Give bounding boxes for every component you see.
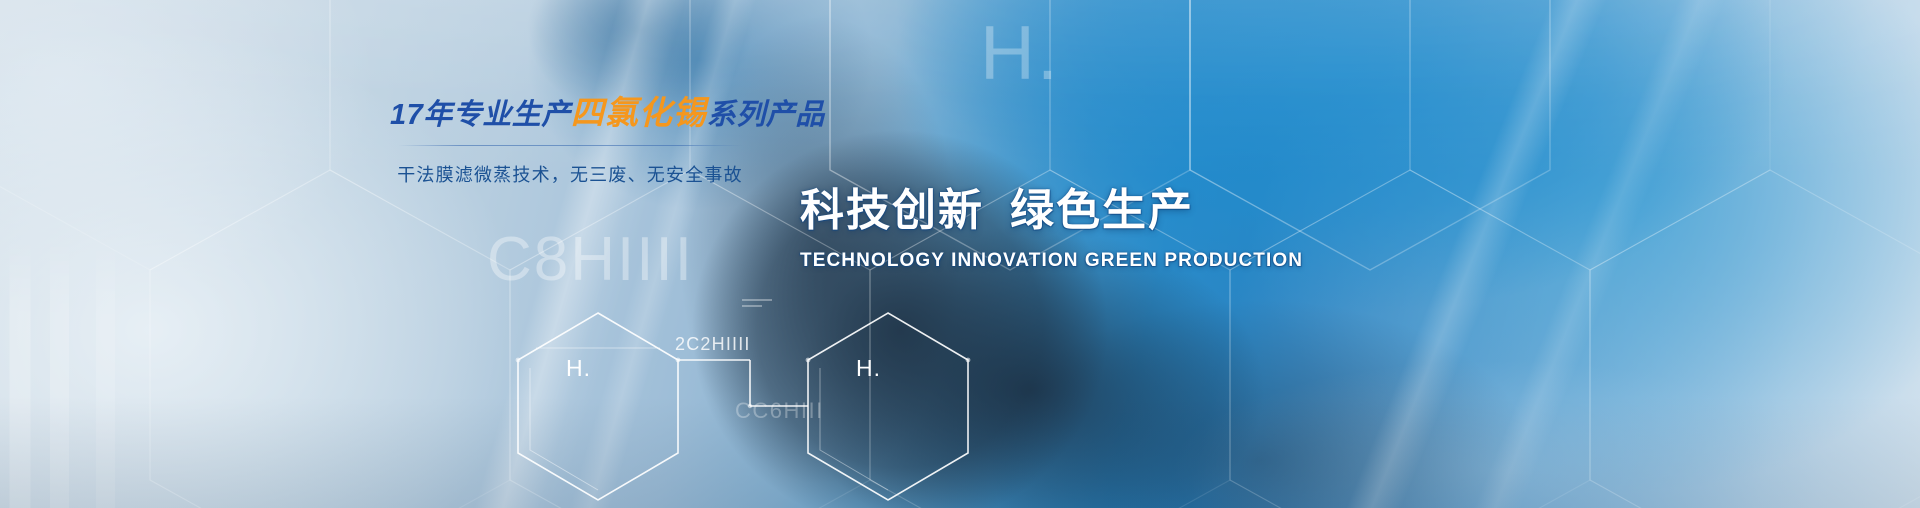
slogan-part-one: 科技创新 — [800, 186, 984, 235]
ghost-formula-bottom-text: CC6HIII — [735, 398, 824, 424]
headline-divider — [398, 145, 743, 146]
left-copy-block: 17年专业生产四氯化锡系列产品 干法膜滤微蒸技术，无三废、无安全事故 — [390, 96, 750, 187]
headline-accent-product: 四氯化锡 — [571, 94, 707, 131]
hexagon-label-left: H. — [566, 355, 591, 382]
headline-suffix: 系列产品 — [707, 99, 825, 131]
ghost-formula-small-text: 2C2HIIII — [675, 334, 751, 355]
hex-inner-detail — [530, 348, 660, 490]
ghost-formula-large-text: C8HIIII — [487, 224, 694, 295]
hexagon-label-large: H. — [980, 10, 1060, 97]
slogan-english: TECHNOLOGY INNOVATION GREEN PRODUCTION — [800, 250, 1185, 272]
hex-inner-detail-right — [820, 368, 888, 490]
right-copy-block: 科技创新绿色生产 TECHNOLOGY INNOVATION GREEN PRO… — [800, 185, 1185, 272]
hexagon-label-right: H. — [856, 355, 881, 382]
hero-banner: C8HIIII 2C2HIIII CC6HIII H. H. H. 17年专业生… — [0, 0, 1920, 508]
slogan-chinese: 科技创新绿色生产 — [800, 185, 1185, 237]
headline: 17年专业生产四氯化锡系列产品 — [390, 96, 750, 130]
headline-prefix: 17年专业生产 — [390, 99, 571, 131]
slogan-part-two: 绿色生产 — [1010, 186, 1194, 235]
subline: 干法膜滤微蒸技术，无三废、无安全事故 — [390, 161, 750, 187]
tick-marks — [742, 300, 772, 306]
